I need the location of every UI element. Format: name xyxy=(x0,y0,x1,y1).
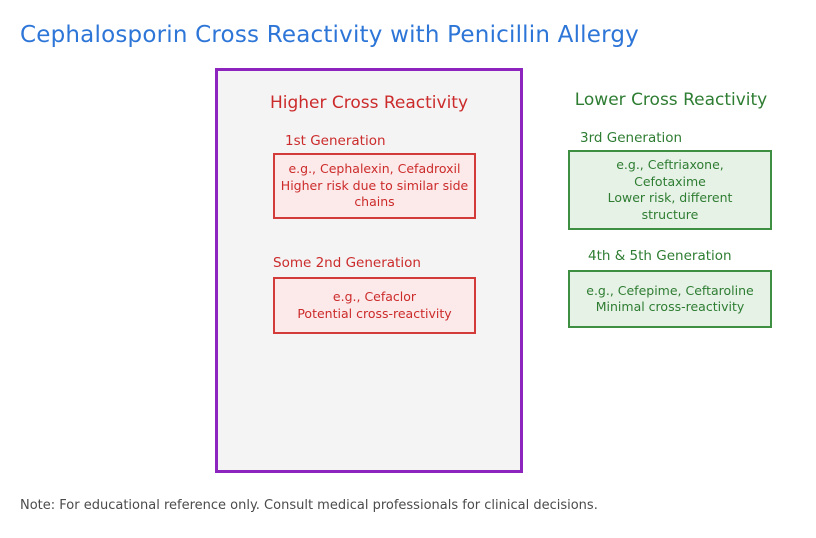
group-label-4th-5th-generation: 4th & 5th Generation xyxy=(588,248,732,264)
info-line: Lower risk, different xyxy=(608,190,733,207)
info-line: chains xyxy=(354,194,394,211)
higher-cross-reactivity-heading: Higher Cross Reactivity xyxy=(218,93,520,113)
info-line: e.g., Cefepime, Ceftaroline xyxy=(586,283,753,300)
info-line: structure xyxy=(642,207,699,224)
info-line: e.g., Cephalexin, Cefadroxil xyxy=(288,161,460,178)
info-line: e.g., Cefaclor xyxy=(333,289,416,306)
info-line: Minimal cross-reactivity xyxy=(596,299,745,316)
info-line: e.g., Ceftriaxone, xyxy=(616,157,724,174)
group-label-1st-generation: 1st Generation xyxy=(285,133,386,149)
higher-cross-reactivity-panel: Higher Cross Reactivity 1st Generation e… xyxy=(215,68,523,473)
lower-cross-reactivity-panel: Lower Cross Reactivity 3rd Generation e.… xyxy=(560,68,784,473)
group-label-3rd-generation: 3rd Generation xyxy=(580,130,682,146)
footer-note: Note: For educational reference only. Co… xyxy=(20,498,598,513)
page-title: Cephalosporin Cross Reactivity with Peni… xyxy=(20,22,639,48)
info-box-1st-generation: e.g., Cephalexin, Cefadroxil Higher risk… xyxy=(273,153,476,219)
info-box-3rd-generation: e.g., Ceftriaxone, Cefotaxime Lower risk… xyxy=(568,150,772,230)
diagram-canvas: Cephalosporin Cross Reactivity with Peni… xyxy=(0,0,816,538)
info-line: Higher risk due to similar side xyxy=(281,178,468,195)
info-line: Potential cross-reactivity xyxy=(297,306,451,323)
group-label-some-2nd-generation: Some 2nd Generation xyxy=(273,255,421,271)
info-box-some-2nd-generation: e.g., Cefaclor Potential cross-reactivit… xyxy=(273,277,476,334)
info-box-4th-5th-generation: e.g., Cefepime, Ceftaroline Minimal cros… xyxy=(568,270,772,328)
info-line: Cefotaxime xyxy=(634,174,706,191)
lower-cross-reactivity-heading: Lower Cross Reactivity xyxy=(559,90,783,110)
